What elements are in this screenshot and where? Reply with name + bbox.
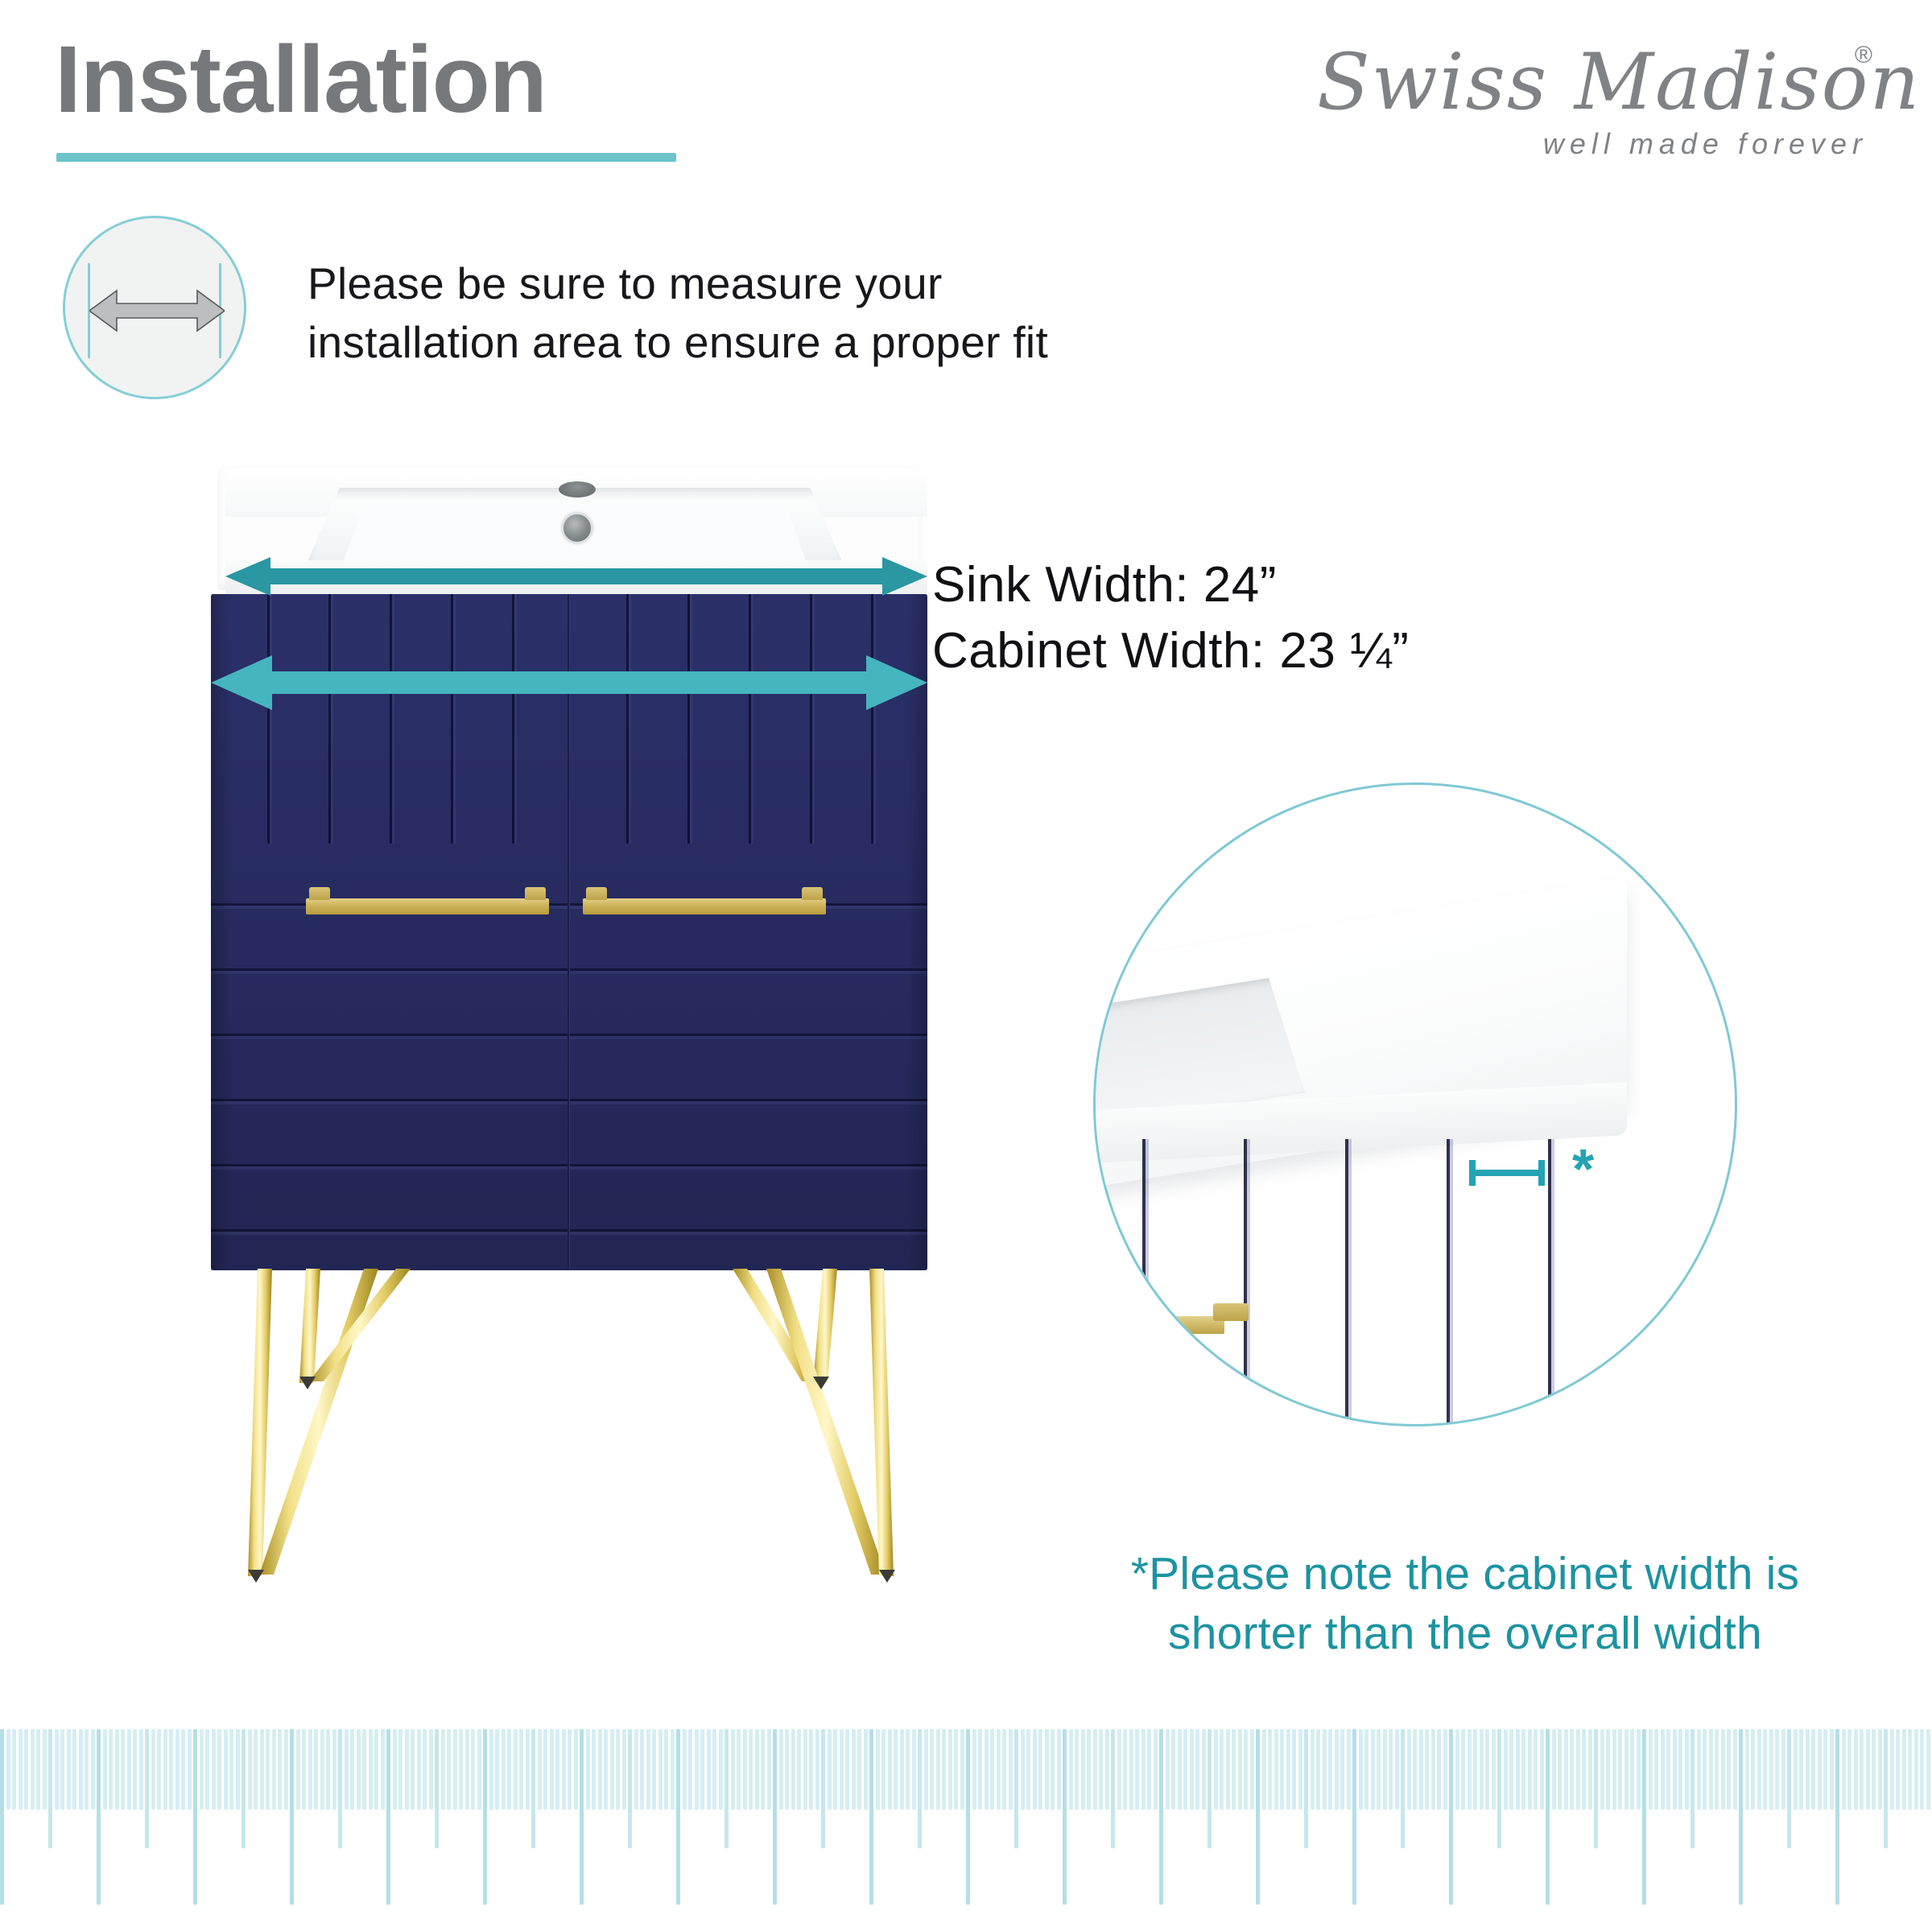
ruler-tick-inch [290, 1729, 294, 1905]
ruler-tick-inch [1159, 1729, 1163, 1905]
brand-name: Swiss Madison [1317, 37, 1848, 134]
ruler-tick-minor [72, 1729, 76, 1810]
ruler-tick-minor [67, 1729, 71, 1810]
ruler-tick-minor [1298, 1729, 1302, 1810]
ruler-tick-minor [254, 1729, 258, 1810]
ruler-tick-inch [1546, 1729, 1550, 1905]
ruler-tick-minor [139, 1729, 143, 1810]
ruler-tick-minor [978, 1729, 982, 1810]
ruler-tick-minor [755, 1729, 759, 1810]
ruler-tick-minor [1081, 1729, 1085, 1810]
ruler-tick-half [1111, 1729, 1115, 1848]
ruler-tick-inch [580, 1729, 584, 1905]
ruler-tick-minor [1673, 1729, 1677, 1810]
ruler-tick-half [1304, 1729, 1308, 1848]
ruler-tick-minor [930, 1729, 934, 1810]
ruler-tick-minor [200, 1729, 204, 1810]
ruler-tick-inch [773, 1729, 777, 1905]
ruler-tick-minor [1045, 1729, 1049, 1810]
door-handle-left [306, 898, 549, 914]
ruler-tick-half [242, 1729, 246, 1848]
ruler-tick-minor [700, 1729, 704, 1810]
ruler-tick-minor [459, 1729, 463, 1810]
ruler-tick-minor [1292, 1729, 1296, 1810]
ruler-tick-minor [332, 1729, 336, 1810]
ruler-tick-minor [1195, 1729, 1199, 1810]
ruler-tick-half [338, 1729, 342, 1848]
ruler-tick-minor [640, 1729, 644, 1810]
ruler-tick-minor [1902, 1729, 1906, 1810]
ruler-tick-minor [1516, 1729, 1520, 1810]
ruler-tick-inch [869, 1729, 873, 1905]
ruler-tick-minor [767, 1729, 771, 1810]
dimension-labels: Sink Width: 24” Cabinet Width: 23 ¼” [932, 552, 1409, 685]
ruler-tick-minor [91, 1729, 95, 1810]
ruler-tick-minor [1455, 1729, 1459, 1810]
ruler-tick-minor [906, 1729, 910, 1810]
ruler-tick-minor [815, 1729, 819, 1810]
ruler-tick-minor [695, 1729, 699, 1810]
ruler-tick-minor [1033, 1729, 1037, 1810]
ruler-tick-inch [97, 1729, 101, 1905]
ruler-tick-minor [1468, 1729, 1472, 1810]
measure-icon-circle [63, 216, 246, 399]
ruler-tick-minor [471, 1729, 475, 1810]
ruler-tick-minor [55, 1729, 59, 1810]
ruler-tick-minor [1830, 1729, 1834, 1810]
ruler-tick-minor [876, 1729, 880, 1810]
ruler-tick-inch [1449, 1729, 1453, 1905]
ruler-tick-half [531, 1729, 535, 1848]
ruler-tick-minor [712, 1729, 716, 1810]
ruler-tick-minor [248, 1729, 252, 1810]
ruler-tick-minor [1715, 1729, 1719, 1810]
ruler-tick-minor [381, 1729, 385, 1810]
ruler-tick-minor [1117, 1729, 1121, 1810]
ruler-tick-minor [1890, 1729, 1894, 1810]
ruler-tick-minor [881, 1729, 885, 1810]
leg-feet [248, 1377, 895, 1583]
ruler-tick-minor [320, 1729, 324, 1810]
ruler-tick-minor [1274, 1729, 1278, 1810]
ruler-tick-minor [1878, 1729, 1882, 1810]
ruler-tick-minor [658, 1729, 663, 1810]
ruler-tick-inch [1835, 1729, 1839, 1905]
ruler-tick-minor [79, 1729, 83, 1810]
ruler-tick-minor [1286, 1729, 1290, 1810]
ruler-tick-minor [151, 1729, 155, 1810]
title-underline [56, 153, 676, 162]
ruler-tick-minor [543, 1729, 547, 1810]
ruler-tick-minor [266, 1729, 270, 1810]
handle-mount [802, 887, 823, 900]
ruler-tick-minor [1099, 1729, 1103, 1810]
ruler-tick-minor [954, 1729, 958, 1810]
ruler-tick-minor [1328, 1729, 1332, 1810]
ruler-tick-minor [1437, 1729, 1441, 1810]
ruler-tick-minor [1335, 1729, 1339, 1810]
ruler-tick-minor [453, 1729, 457, 1810]
ruler-tick-minor [737, 1729, 741, 1810]
ruler-tick-minor [900, 1729, 904, 1810]
measure-instruction-line-2: installation area to ensure a proper fit [308, 313, 1048, 372]
vanity-illustration [211, 465, 927, 1584]
ruler-tick-minor [1528, 1729, 1532, 1810]
ruler-tick-minor [1618, 1729, 1622, 1810]
ruler-tick-minor [1443, 1729, 1447, 1810]
ruler-tick-minor [1847, 1729, 1851, 1810]
ruler-tick-minor [1123, 1729, 1127, 1810]
ruler-tick-minor [809, 1729, 813, 1810]
detail-note-line-1: *Please note the cabinet width is [1071, 1544, 1860, 1604]
ruler-tick-minor [1540, 1729, 1544, 1810]
ruler-tick-minor [1721, 1729, 1725, 1810]
ruler-tick-minor [24, 1729, 28, 1810]
ruler-tick-minor [646, 1729, 650, 1810]
ruler-tick-minor [1226, 1729, 1230, 1810]
ruler-tick-minor [169, 1729, 173, 1810]
ruler-tick-minor [997, 1729, 1001, 1810]
brand-tagline: well made forever [1543, 127, 1868, 161]
ruler-tick-half [1207, 1729, 1212, 1848]
ruler-tick-minor [652, 1729, 656, 1810]
ruler-tick-minor [175, 1729, 180, 1810]
ruler-tick-minor [423, 1729, 427, 1810]
ruler-tick-minor [1504, 1729, 1508, 1810]
ruler-tick-minor [1183, 1729, 1187, 1810]
ruler-tick-minor [990, 1729, 994, 1810]
ruler-tick-minor [1769, 1729, 1773, 1810]
ruler-tick-minor [1190, 1729, 1194, 1810]
ruler-tick-minor [374, 1729, 378, 1810]
handle-mount [309, 887, 330, 900]
ruler-tick-inch [1352, 1729, 1356, 1905]
ruler-tick-minor [43, 1729, 47, 1810]
ruler-tick-minor [157, 1729, 161, 1810]
ruler-tick-minor [477, 1729, 481, 1810]
ruler-tick-minor [1069, 1729, 1073, 1810]
ruler-tick-minor [447, 1729, 451, 1810]
ruler-tick-minor [1860, 1729, 1864, 1810]
ruler-tick-minor [1612, 1729, 1616, 1810]
ruler-tick-minor [1480, 1729, 1484, 1810]
ruler-tick-minor [1311, 1729, 1315, 1810]
ruler-tick-minor [1818, 1729, 1822, 1810]
ruler-tick-minor [857, 1729, 861, 1810]
ruler-tick-minor [1364, 1729, 1368, 1810]
ruler-tick-minor [1051, 1729, 1055, 1810]
ruler-tick-minor [205, 1729, 209, 1810]
sink-width-arrow [225, 555, 927, 597]
handle-mount [586, 887, 607, 900]
ruler-tick-half [1497, 1729, 1501, 1848]
ruler-tick-minor [103, 1729, 107, 1810]
ruler-tick-minor [1262, 1729, 1266, 1810]
ruler-tick-minor [972, 1729, 976, 1810]
ruler-tick-minor [465, 1729, 469, 1810]
ruler-tick-minor [441, 1729, 445, 1810]
ruler-tick-minor [1178, 1729, 1182, 1810]
ruler-tick-minor [85, 1729, 89, 1810]
ruler-tick-minor [1926, 1729, 1930, 1810]
ruler-tick-minor [828, 1729, 832, 1810]
ruler-tick-minor [574, 1729, 578, 1810]
ruler-tick-minor [60, 1729, 64, 1810]
brand-logo: Swiss Madison ® well made forever [1317, 37, 1872, 172]
ruler-tick-minor [1908, 1729, 1912, 1810]
ruler-tick-minor [683, 1729, 687, 1810]
page-title: Installation [55, 31, 547, 130]
ruler-tick-minor [1872, 1729, 1876, 1810]
ruler-tick-minor [1576, 1729, 1580, 1810]
ruler-tick-minor [1340, 1729, 1344, 1810]
ruler-tick-minor [229, 1729, 233, 1810]
ruler-tick-minor [1920, 1729, 1924, 1810]
ruler-tick-minor [19, 1729, 23, 1810]
ruler-tick-minor [1093, 1729, 1097, 1810]
ruler-tick-minor [1359, 1729, 1363, 1810]
ruler-tick-minor [1316, 1729, 1320, 1810]
ruler-tick-minor [1521, 1729, 1525, 1810]
ruler-tick-minor [284, 1729, 288, 1810]
ruler-tick-minor [236, 1729, 240, 1810]
ruler-tick-minor [1794, 1729, 1798, 1810]
ruler-tick-minor [840, 1729, 844, 1810]
ruler-tick-minor [1383, 1729, 1387, 1810]
ruler-tick-minor [634, 1729, 638, 1810]
ruler-tick-minor [278, 1729, 282, 1810]
ruler-tick-minor [1552, 1729, 1556, 1810]
ruler-tick-minor [1250, 1729, 1254, 1810]
detail-note: *Please note the cabinet width is shorte… [1071, 1544, 1860, 1663]
door-grooves-vertical [570, 594, 927, 844]
ruler-tick-minor [1395, 1729, 1399, 1810]
ruler-tick-inch [1739, 1729, 1743, 1905]
ruler-tick-minor [1509, 1729, 1513, 1810]
ruler-tick-minor [109, 1729, 113, 1810]
ruler-tick-minor [1745, 1729, 1749, 1810]
ruler-tick-minor [1842, 1729, 1846, 1810]
ruler-tick-minor [1473, 1729, 1477, 1810]
ruler-tick-minor [393, 1729, 397, 1810]
ruler-tick-minor [1431, 1729, 1435, 1810]
detail-handle-mount [1213, 1303, 1249, 1321]
ruler-tick-inch [676, 1729, 680, 1905]
ruler-tick-minor [133, 1729, 137, 1810]
ruler-tick-minor [1727, 1729, 1731, 1810]
ruler-tick-minor [212, 1729, 216, 1810]
door-grooves-vertical [211, 594, 568, 844]
ruler-tick-minor [1811, 1729, 1815, 1810]
ruler-tick-minor [272, 1729, 276, 1810]
ruler-tick-half [1787, 1729, 1791, 1848]
vanity-legs [211, 1269, 927, 1583]
ruler-tick-minor [1564, 1729, 1568, 1810]
ruler-tick-minor [127, 1729, 131, 1810]
ruler-tick-inch [0, 1729, 4, 1905]
ruler-tick-minor [555, 1729, 559, 1810]
ruler-tick-minor [507, 1729, 511, 1810]
ruler-tick-minor [1703, 1729, 1707, 1810]
ruler-tick-minor [1697, 1729, 1701, 1810]
ruler-tick-minor [888, 1729, 892, 1810]
ruler-tick-minor [1220, 1729, 1224, 1810]
ruler-tick-minor [121, 1729, 125, 1810]
ruler-tick-minor [345, 1729, 349, 1810]
ruler-tick-minor [1866, 1729, 1870, 1810]
ruler-tick-minor [797, 1729, 801, 1810]
ruler-tick-half [821, 1729, 825, 1848]
ruler-tick-minor [514, 1729, 518, 1810]
ruler-tick-minor [1105, 1729, 1109, 1810]
ruler-tick-minor [6, 1729, 10, 1810]
ruler-tick-minor [622, 1729, 626, 1810]
ruler-tick-minor [526, 1729, 530, 1810]
ruler-tick-minor [791, 1729, 795, 1810]
ruler-tick-minor [1709, 1729, 1713, 1810]
ruler-tick-minor [912, 1729, 916, 1810]
ruler-tick-minor [598, 1729, 602, 1810]
ruler-tick-minor [1407, 1729, 1411, 1810]
measure-instruction-line-1: Please be sure to measure your [308, 254, 1048, 313]
ruler-tick-inch [1063, 1729, 1067, 1905]
ruler-tick-minor [1534, 1729, 1538, 1810]
ruler-tick-minor [495, 1729, 499, 1810]
ruler-tick-minor [429, 1729, 433, 1810]
ruler-tick-minor [1244, 1729, 1248, 1810]
ruler-tick-minor [719, 1729, 723, 1810]
ruler-tick-minor [1419, 1729, 1423, 1810]
ruler-tick-minor [405, 1729, 409, 1810]
ruler-tick-minor [369, 1729, 373, 1810]
ruler-tick-minor [761, 1729, 765, 1810]
ruler-tick-minor [1021, 1729, 1025, 1810]
ruler-tick-half [435, 1729, 439, 1848]
ruler-tick-minor [1799, 1729, 1803, 1810]
ruler-tick-minor [1781, 1729, 1785, 1810]
ruler-tick-minor [616, 1729, 620, 1810]
ruler-tick-minor [326, 1729, 330, 1810]
ruler-tick-minor [985, 1729, 989, 1810]
ruler-tick-minor [217, 1729, 221, 1810]
ruler-tick-minor [1461, 1729, 1465, 1810]
ruler-tick-minor [302, 1729, 306, 1810]
ruler-tick-minor [1751, 1729, 1755, 1810]
ruler-tick-minor [308, 1729, 312, 1810]
ruler-tick-minor [1649, 1729, 1653, 1810]
ruler-tick-minor [519, 1729, 523, 1810]
ruler-tick-minor [314, 1729, 318, 1810]
ruler-tick-minor [1214, 1729, 1218, 1810]
ruler-tick-minor [592, 1729, 596, 1810]
cabinet-width-arrow [211, 652, 927, 713]
ruler-tick-minor [12, 1729, 16, 1810]
ruler-tick-minor [1232, 1729, 1236, 1810]
ruler-tick-minor [538, 1729, 542, 1810]
ruler-tick-minor [1166, 1729, 1170, 1810]
ruler-tick-minor [1202, 1729, 1206, 1810]
ruler-tick-half [1884, 1729, 1888, 1848]
ruler-tick-minor [785, 1729, 789, 1810]
ruler-tick-minor [1009, 1729, 1013, 1810]
installation-diagram-page: Installation Swiss Madison ® well made f… [0, 0, 1932, 1932]
detail-inset-circle: * [1093, 782, 1737, 1426]
ruler-tick-minor [664, 1729, 668, 1810]
ruler-tick-minor [550, 1729, 554, 1810]
ruler-tick-minor [1685, 1729, 1689, 1810]
registered-trademark-icon: ® [1855, 42, 1872, 69]
ruler-tick-half [145, 1729, 149, 1848]
ruler-tick-minor [350, 1729, 354, 1810]
ruler-tick-minor [1806, 1729, 1810, 1810]
drain-icon [561, 512, 593, 544]
ruler-tick-minor [1823, 1729, 1827, 1810]
door-handle-right [583, 898, 826, 914]
ruler-tick-minor [115, 1729, 119, 1810]
ruler-tick-minor [864, 1729, 868, 1810]
ruler-tick-minor [1733, 1729, 1737, 1810]
ruler-tick-minor [894, 1729, 898, 1810]
ruler-tick-minor [1154, 1729, 1158, 1810]
ruler-tick-minor [1757, 1729, 1761, 1810]
ruler-tick-minor [671, 1729, 675, 1810]
ruler-tick-minor [779, 1729, 783, 1810]
ruler-tick-half [918, 1729, 922, 1848]
ruler-tick-minor [1026, 1729, 1030, 1810]
ruler-tick-minor [1371, 1729, 1375, 1810]
ruler-tick-minor [1038, 1729, 1042, 1810]
asterisk-marker: * [1572, 1141, 1594, 1197]
ruler-tick-minor [188, 1729, 192, 1810]
ruler-tick-minor [749, 1729, 753, 1810]
ruler-tick-inch [386, 1729, 390, 1905]
ruler-tick-minor [948, 1729, 952, 1810]
ruler-tick-minor [1654, 1729, 1658, 1810]
ruler-tick-half [1401, 1729, 1405, 1848]
ruler-tick-minor [1075, 1729, 1079, 1810]
ruler-tick-minor [1087, 1729, 1091, 1810]
ruler-tick-minor [1600, 1729, 1604, 1810]
ruler-tick-minor [942, 1729, 946, 1810]
ruler-tick-half [1594, 1729, 1598, 1848]
ruler-tick-minor [1678, 1729, 1682, 1810]
leg-back-left [299, 1269, 411, 1383]
ruler-tick-minor [1763, 1729, 1767, 1810]
cabinet-width-label: Cabinet Width: 23 ¼” [932, 618, 1409, 684]
ruler-tick-minor [1588, 1729, 1592, 1810]
ruler-tick-minor [688, 1729, 692, 1810]
ruler-tick-minor [1775, 1729, 1779, 1810]
ruler-tick-minor [1558, 1729, 1562, 1810]
ruler-tick-inch [483, 1729, 487, 1905]
ruler-tick-minor [1637, 1729, 1641, 1810]
ruler-tick-minor [260, 1729, 264, 1810]
ruler-tick-minor [1661, 1729, 1665, 1810]
detail-door-handle [1093, 1316, 1224, 1334]
detail-note-line-2: shorter than the overall width [1071, 1604, 1860, 1663]
ruler-tick-minor [1666, 1729, 1670, 1810]
ruler-tick-minor [743, 1729, 747, 1810]
ruler-tick-minor [1147, 1729, 1151, 1810]
ruler-tick-minor [586, 1729, 590, 1810]
ruler-tick-inch [966, 1729, 970, 1905]
ruler-tick-minor [1413, 1729, 1417, 1810]
ruler-tick-minor [417, 1729, 421, 1810]
ruler-tick-minor [163, 1729, 167, 1810]
ruler-tick-minor [1057, 1729, 1061, 1810]
ruler-tick-minor [1002, 1729, 1006, 1810]
ruler-tick-minor [803, 1729, 807, 1810]
